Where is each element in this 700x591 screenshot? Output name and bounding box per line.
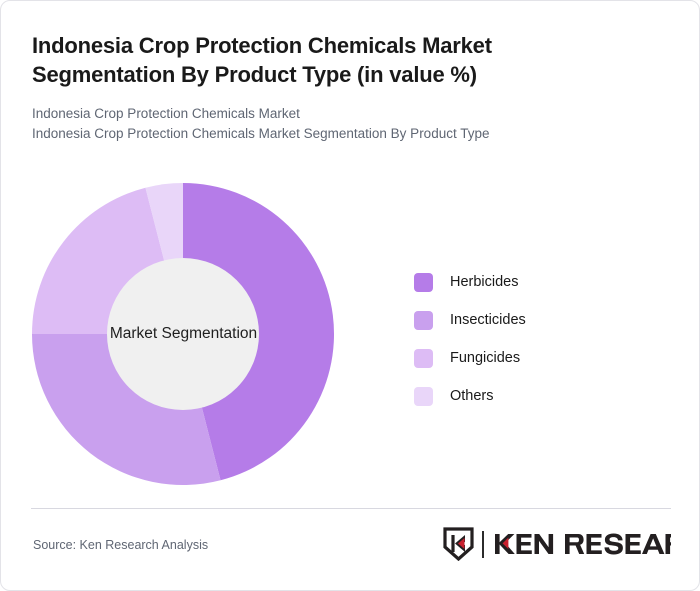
chart-card: Indonesia Crop Protection Chemicals Mark…: [0, 0, 700, 591]
chart-subtitle-primary: Indonesia Crop Protection Chemicals Mark…: [32, 104, 652, 124]
legend-label: Others: [450, 388, 494, 404]
legend-swatch: [414, 311, 433, 330]
legend-swatch: [414, 273, 433, 292]
chart-subtitle-secondary: Indonesia Crop Protection Chemicals Mark…: [32, 124, 652, 144]
donut-center-hole: [107, 258, 259, 410]
chart-legend: HerbicidesInsecticidesFungicidesOthers: [414, 263, 526, 415]
legend-swatch: [414, 349, 433, 368]
legend-swatch: [414, 387, 433, 406]
legend-item[interactable]: Insecticides: [414, 301, 526, 339]
ken-research-logo: [443, 525, 671, 563]
ken-research-shield-icon: [443, 527, 474, 561]
legend-item[interactable]: Fungicides: [414, 339, 526, 377]
legend-label: Insecticides: [450, 312, 526, 328]
legend-label: Herbicides: [450, 274, 519, 290]
source-text: Source: Ken Research Analysis: [33, 538, 208, 552]
donut-chart: Market Segmentation: [31, 178, 336, 490]
subtitle-block: Indonesia Crop Protection Chemicals Mark…: [32, 104, 652, 144]
chart-header: Indonesia Crop Protection Chemicals Mark…: [32, 31, 652, 144]
footer-divider: [31, 508, 671, 509]
legend-item[interactable]: Others: [414, 377, 526, 415]
ken-research-wordmark: [493, 531, 671, 557]
page-title: Indonesia Crop Protection Chemicals Mark…: [32, 31, 592, 89]
logo-divider: [482, 531, 484, 558]
legend-label: Fungicides: [450, 350, 520, 366]
legend-item[interactable]: Herbicides: [414, 263, 526, 301]
donut-chart-svg: [31, 178, 336, 490]
